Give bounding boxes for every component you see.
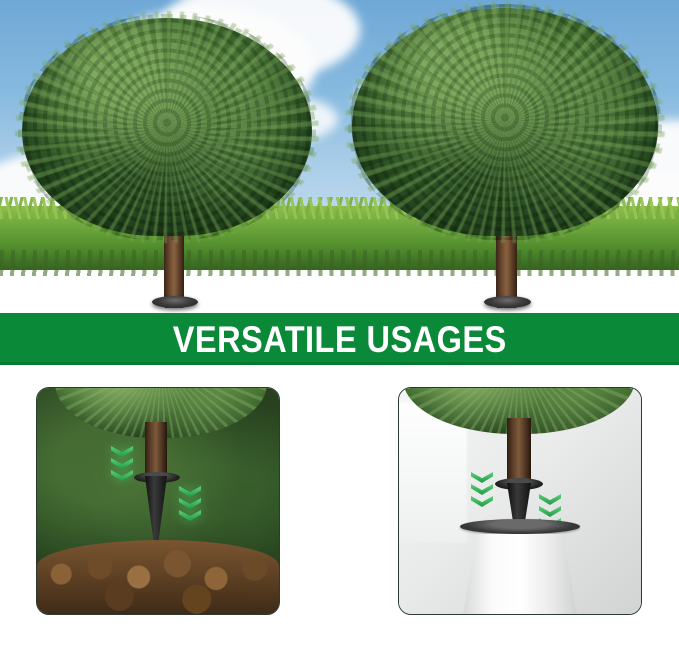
product-feature-image: VERSATILE USAGES	[0, 0, 679, 671]
chevron-down-icon	[179, 498, 201, 509]
banner-title: VERSATILE USAGES	[173, 321, 507, 358]
tree-base-disc	[484, 296, 531, 308]
chevron-down-icon	[111, 458, 133, 469]
planter-rim	[460, 519, 580, 534]
chevron-down-insert-arrows	[471, 472, 493, 507]
hero-outdoor-photo	[0, 0, 679, 314]
chevron-down-icon	[179, 486, 201, 497]
tree-canopy	[22, 18, 312, 236]
white-planter-pot	[462, 534, 578, 615]
soil-cross-section	[0, 258, 679, 314]
tree-base-disc	[152, 296, 198, 308]
chevron-down-icon	[539, 506, 561, 517]
chevron-down-icon	[179, 510, 201, 521]
chevron-down-icon	[471, 496, 493, 507]
chevron-down-insert-arrows	[179, 486, 201, 521]
tree-trunk	[507, 418, 531, 484]
indoor-usage-panel	[398, 387, 642, 615]
usage-comparison-section: Realistic Cypress Tree (no planter requi…	[0, 365, 679, 671]
tree-canopy	[352, 8, 658, 236]
chevron-down-insert-arrows	[111, 446, 133, 481]
outdoor-usage-panel	[36, 387, 280, 615]
versatile-usages-banner: VERSATILE USAGES	[0, 313, 679, 365]
chevron-down-icon	[539, 494, 561, 505]
chevron-down-icon	[111, 446, 133, 457]
soil-mound	[37, 540, 279, 614]
chevron-down-icon	[471, 484, 493, 495]
chevron-down-icon	[471, 472, 493, 483]
chevron-down-icon	[111, 470, 133, 481]
tree-trunk	[145, 422, 167, 478]
